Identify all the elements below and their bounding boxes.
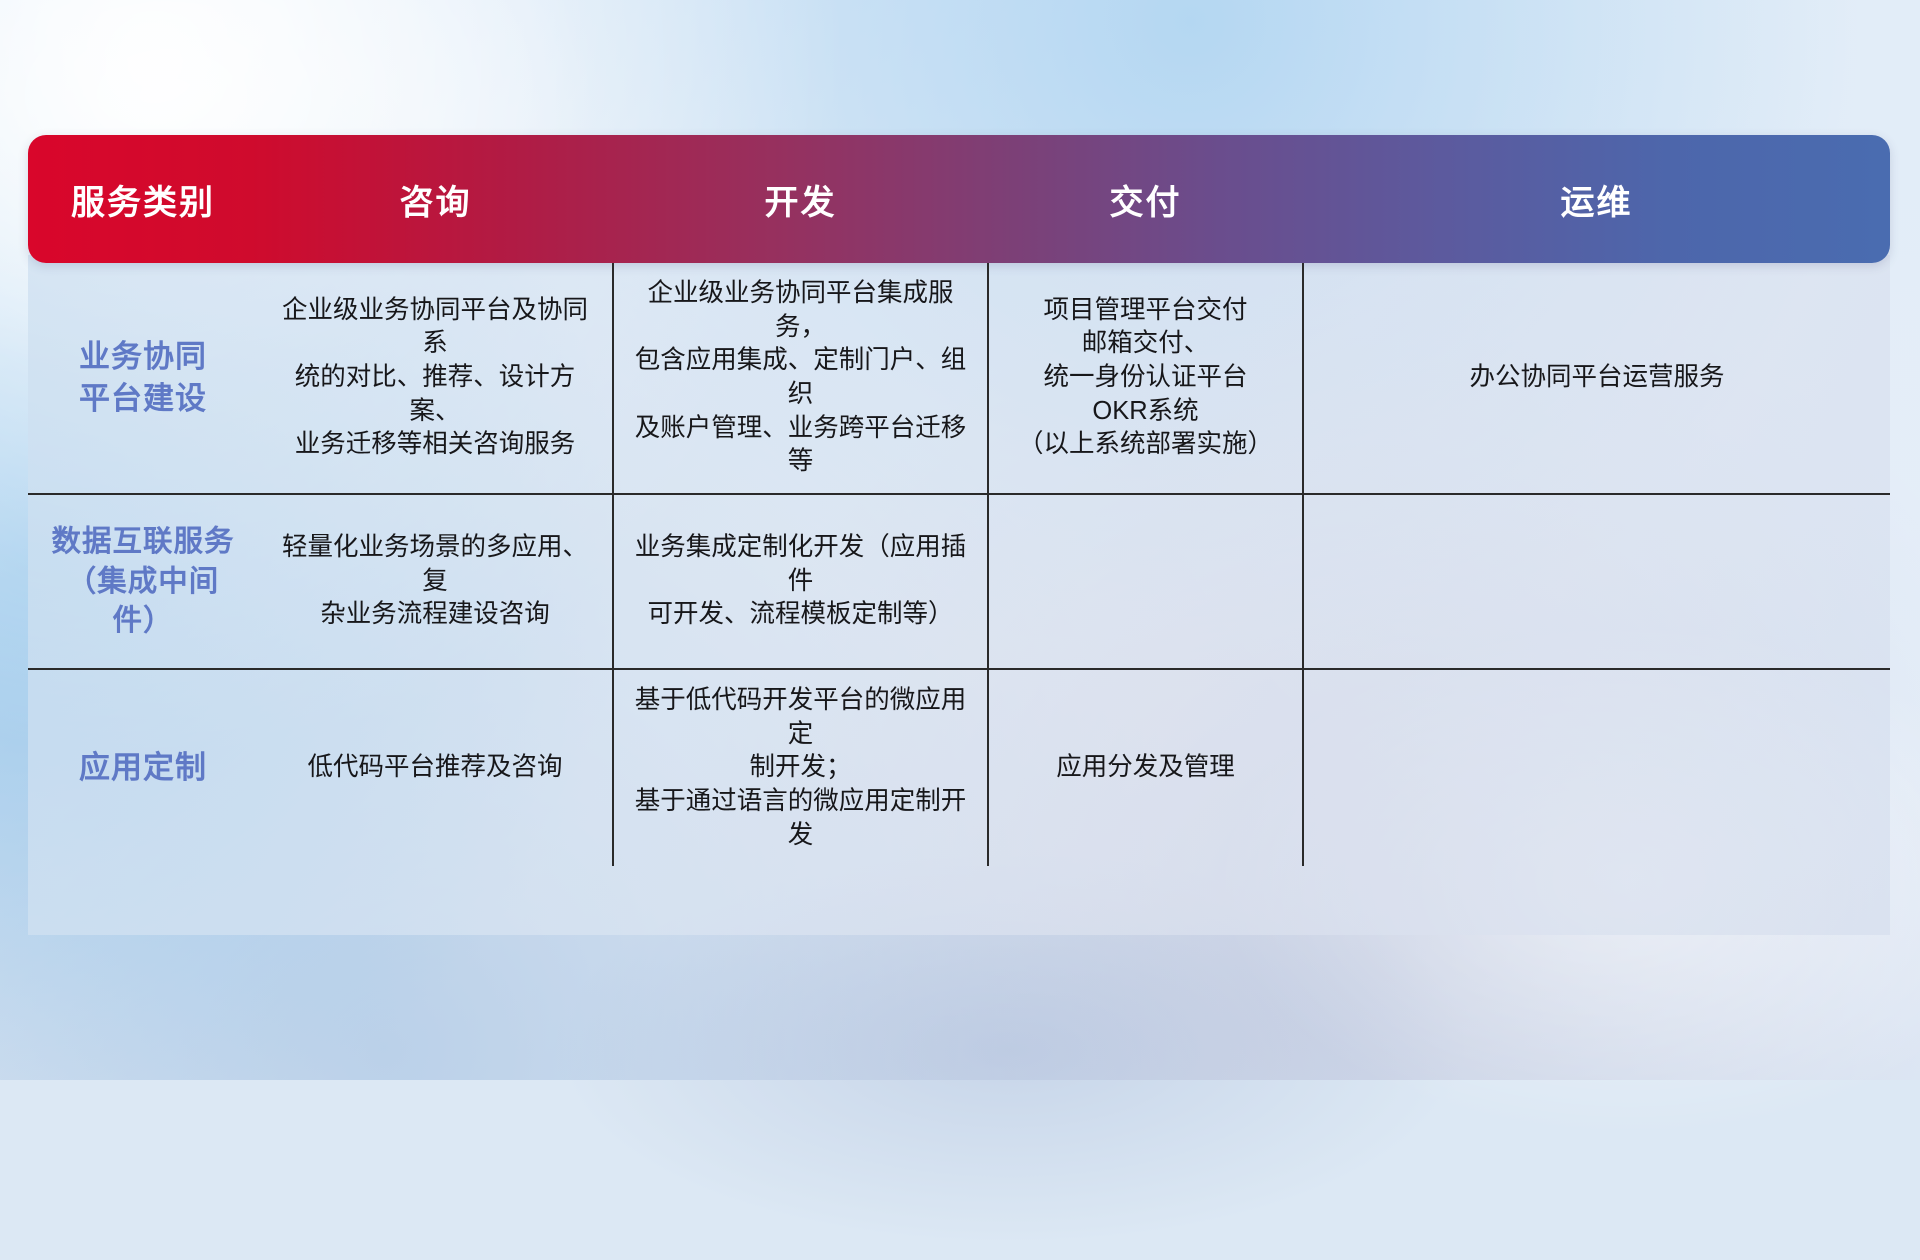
row-header-line: 数据互联服务 <box>44 522 242 562</box>
cell-line: 应用分发及管理 <box>1005 751 1286 785</box>
cell-line: 邮箱交付、 <box>1005 327 1286 361</box>
column-header-development: 开发 <box>613 135 988 263</box>
cell-line: 统的对比、推荐、设计方案、 <box>274 361 596 428</box>
cell-line: 包含应用集成、定制门户、组织 <box>630 344 971 411</box>
column-header-operations: 运维 <box>1303 135 1890 263</box>
row-header-line: 业务协同 <box>44 336 242 378</box>
cell-line: 基于通过语言的微应用定制开发 <box>630 785 971 852</box>
cell-row1-operations: 办公协同平台运营服务 <box>1303 263 1890 494</box>
cell-line: 及账户管理、业务跨平台迁移等 <box>630 412 971 479</box>
cell-row3-delivery: 应用分发及管理 <box>988 669 1303 866</box>
row-header-line: （集成中间件） <box>44 562 242 641</box>
cell-line: （以上系统部署实施） <box>1005 428 1286 462</box>
cell-line: 业务迁移等相关咨询服务 <box>274 428 596 462</box>
cell-row3-consulting: 低代码平台推荐及咨询 <box>258 669 613 866</box>
cell-line: 低代码平台推荐及咨询 <box>274 751 596 785</box>
cell-line: 可开发、流程模板定制等） <box>630 598 971 632</box>
cell-line: 制开发； <box>630 751 971 785</box>
cell-line: 统一身份认证平台 <box>1005 361 1286 395</box>
cell-line: 业务集成定制化开发（应用插件 <box>630 531 971 598</box>
cell-line: OKR系统 <box>1005 395 1286 429</box>
cell-line: 杂业务流程建设咨询 <box>274 598 596 632</box>
cell-row1-consulting: 企业级业务协同平台及协同系 统的对比、推荐、设计方案、 业务迁移等相关咨询服务 <box>258 263 613 494</box>
cell-row1-delivery: 项目管理平台交付 邮箱交付、 统一身份认证平台 OKR系统 （以上系统部署实施） <box>988 263 1303 494</box>
column-header-consulting: 咨询 <box>258 135 613 263</box>
cell-row2-delivery <box>988 494 1303 669</box>
row-header-business-collaboration-platform: 业务协同 平台建设 <box>28 263 258 494</box>
row-header-data-interconnect-service: 数据互联服务 （集成中间件） <box>28 494 258 669</box>
table-row: 业务协同 平台建设 企业级业务协同平台及协同系 统的对比、推荐、设计方案、 业务… <box>28 263 1890 494</box>
service-matrix-table: 服务类别 咨询 开发 交付 运维 业务协同 平台建设 企业级业务协同平台及协同系… <box>28 135 1890 866</box>
row-header-line: 应用定制 <box>44 747 242 789</box>
table-body: 业务协同 平台建设 企业级业务协同平台及协同系 统的对比、推荐、设计方案、 业务… <box>28 263 1890 866</box>
cell-row2-operations <box>1303 494 1890 669</box>
table-row: 数据互联服务 （集成中间件） 轻量化业务场景的多应用、复 杂业务流程建设咨询 业… <box>28 494 1890 669</box>
cell-row3-operations <box>1303 669 1890 866</box>
cell-line: 项目管理平台交付 <box>1005 294 1286 328</box>
row-header-line: 平台建设 <box>44 378 242 420</box>
cell-row1-development: 企业级业务协同平台集成服务， 包含应用集成、定制门户、组织 及账户管理、业务跨平… <box>613 263 988 494</box>
cell-row2-consulting: 轻量化业务场景的多应用、复 杂业务流程建设咨询 <box>258 494 613 669</box>
cell-line: 企业级业务协同平台集成服务， <box>630 277 971 344</box>
column-header-delivery: 交付 <box>988 135 1303 263</box>
column-header-category: 服务类别 <box>28 135 258 263</box>
cell-line: 办公协同平台运营服务 <box>1320 361 1874 395</box>
table-header-row: 服务类别 咨询 开发 交付 运维 <box>28 135 1890 263</box>
cell-line: 轻量化业务场景的多应用、复 <box>274 531 596 598</box>
row-header-application-customization: 应用定制 <box>28 669 258 866</box>
cell-line: 基于低代码开发平台的微应用定 <box>630 684 971 751</box>
table-row: 应用定制 低代码平台推荐及咨询 基于低代码开发平台的微应用定 制开发； 基于通过… <box>28 669 1890 866</box>
cell-row2-development: 业务集成定制化开发（应用插件 可开发、流程模板定制等） <box>613 494 988 669</box>
table-header: 服务类别 咨询 开发 交付 运维 <box>28 135 1890 263</box>
cell-line: 企业级业务协同平台及协同系 <box>274 294 596 361</box>
service-matrix-container: 服务类别 咨询 开发 交付 运维 业务协同 平台建设 企业级业务协同平台及协同系… <box>28 135 1890 866</box>
cell-row3-development: 基于低代码开发平台的微应用定 制开发； 基于通过语言的微应用定制开发 <box>613 669 988 866</box>
